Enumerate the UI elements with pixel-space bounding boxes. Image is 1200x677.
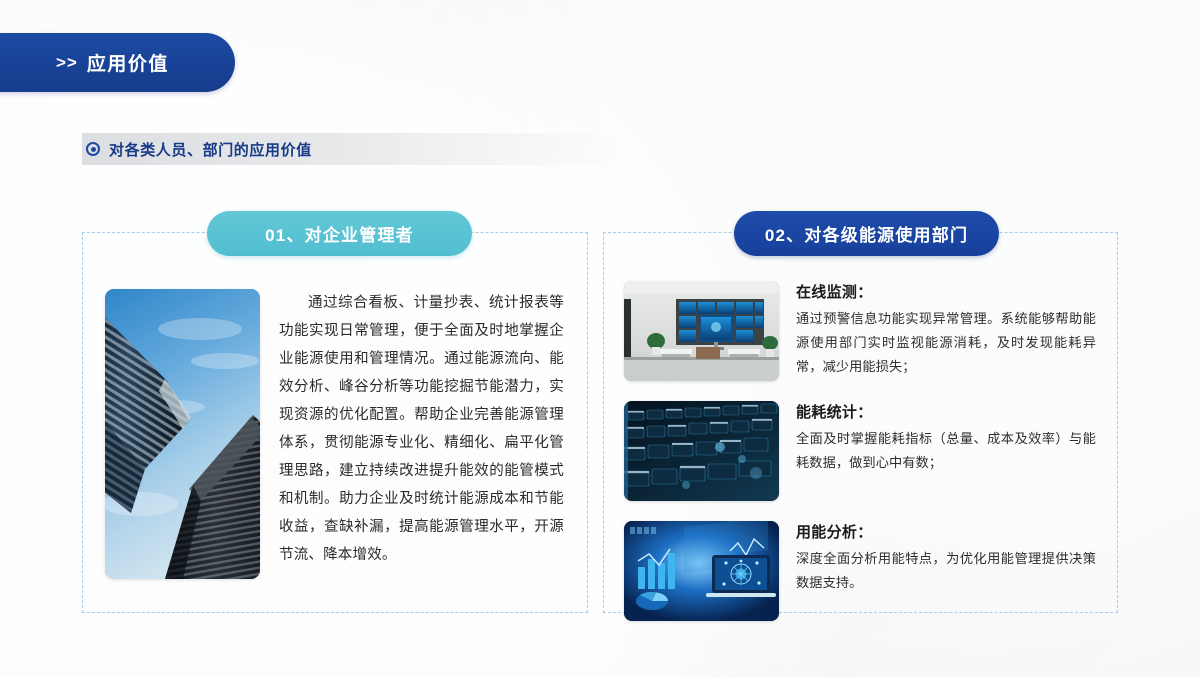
list-item-desc: 通过预警信息功能实现异常管理。系统能够帮助能源使用部门实时监视能源消耗，及时发现… <box>796 307 1096 379</box>
section-subtitle-label: 对各类人员、部门的应用价值 <box>109 139 312 160</box>
list-item: 能耗统计： 全面及时掌握能耗指标（总量、成本及效率）与能耗数据，做到心中有数； <box>624 401 1104 501</box>
card-left-paragraph: 通过综合看板、计量抄表、统计报表等功能实现日常管理，便于全面及时地掌握企业能源使… <box>279 289 564 579</box>
card-energy-departments: 02、对各级能源使用部门 <box>603 232 1118 613</box>
control-room-video-wall-image <box>624 281 779 381</box>
list-item: 用能分析： 深度全面分析用能特点，为优化用能管理提供决策数据支持。 <box>624 521 1104 621</box>
target-dot-icon <box>86 142 100 156</box>
list-item-title: 用能分析： <box>796 521 1096 542</box>
slide-header-pill: >> 应用价值 <box>0 33 235 92</box>
list-item-desc: 深度全面分析用能特点，为优化用能管理提供决策数据支持。 <box>796 547 1096 595</box>
backlit-keyboard-image <box>624 401 779 501</box>
skyscrapers-photo <box>105 289 260 579</box>
chevron-right-double-icon: >> <box>56 53 78 73</box>
card-enterprise-managers: 01、对企业管理者 <box>82 232 588 613</box>
list-item-title: 在线监测： <box>796 281 1096 302</box>
list-item: 在线监测： 通过预警信息功能实现异常管理。系统能够帮助能源使用部门实时监视能源消… <box>624 281 1104 381</box>
card-right-content: 在线监测： 通过预警信息功能实现异常管理。系统能够帮助能源使用部门实时监视能源消… <box>624 281 1104 621</box>
data-analytics-dashboard-image <box>624 521 779 621</box>
card-title-pill-02: 02、对各级能源使用部门 <box>734 211 999 256</box>
section-subtitle: 对各类人员、部门的应用价值 <box>82 133 622 165</box>
card-title-pill-01: 01、对企业管理者 <box>207 211 472 256</box>
list-item-desc: 全面及时掌握能耗指标（总量、成本及效率）与能耗数据，做到心中有数； <box>796 427 1096 475</box>
card-left-content: 通过综合看板、计量抄表、统计报表等功能实现日常管理，便于全面及时地掌握企业能源使… <box>105 289 564 579</box>
list-item-title: 能耗统计： <box>796 401 1096 422</box>
page-title: 应用价值 <box>87 49 169 76</box>
